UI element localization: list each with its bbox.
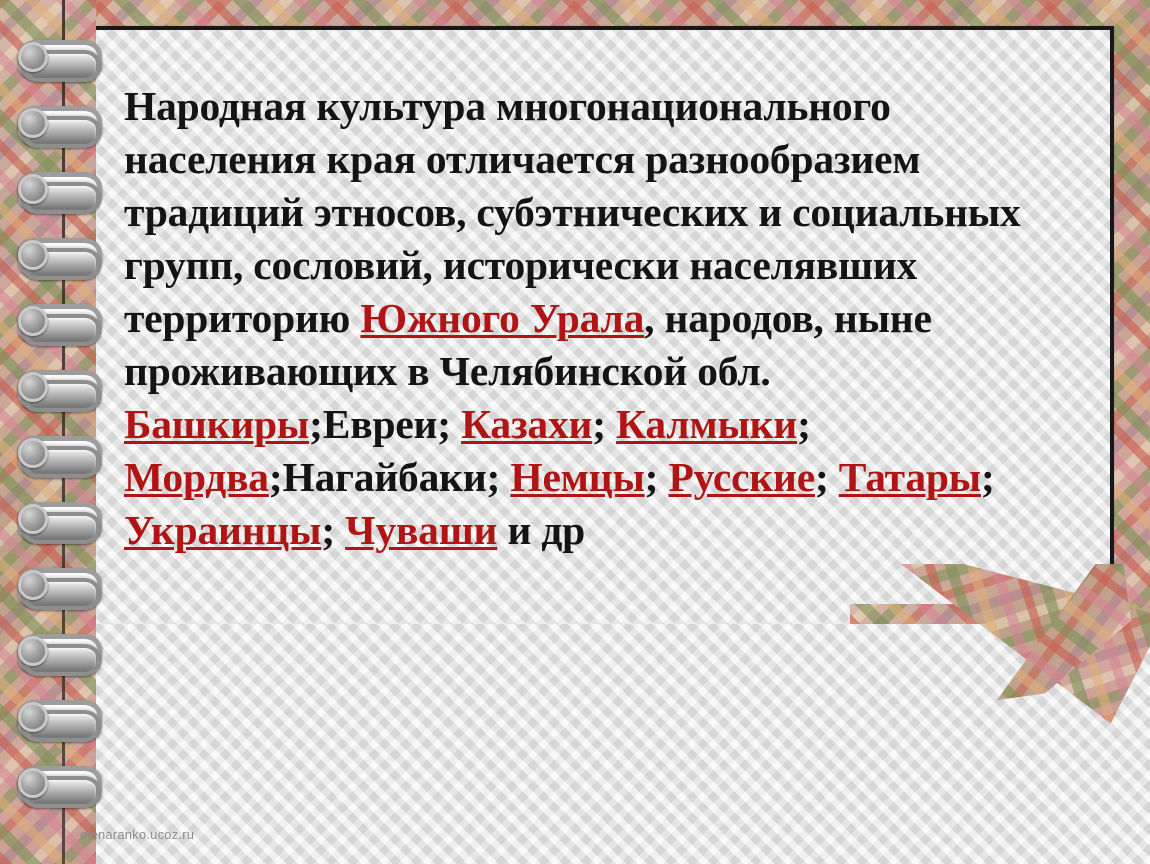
link-bashkiry[interactable]: Башкиры (124, 401, 309, 447)
spiral-ring (18, 104, 96, 144)
spiral-ring (18, 302, 96, 342)
link-tatary[interactable]: Татары (839, 454, 981, 500)
sep-2: ; (797, 401, 811, 447)
slide-text-body: Народная культура многонационального нас… (124, 80, 1074, 557)
spiral-ring-knob (18, 438, 48, 468)
link-mordva[interactable]: Мордва (124, 454, 269, 500)
spiral-ring (18, 170, 96, 210)
link-kazahi[interactable]: Казахи (461, 401, 592, 447)
paper-sheet-lower (86, 624, 1150, 864)
link-chuvashi[interactable]: Чуваши (345, 507, 497, 553)
spiral-rings-group (18, 38, 96, 828)
spiral-ring (18, 632, 96, 672)
spiral-ring-knob (18, 636, 48, 666)
link-russkie[interactable]: Русские (668, 454, 815, 500)
spiral-binding-band (0, 0, 96, 864)
slide-root: Народная культура многонационального нас… (0, 0, 1150, 864)
sep-4: ; (815, 454, 839, 500)
spiral-ring-knob (18, 504, 48, 534)
link-yuzhnogo-urala[interactable]: Южного Урала (360, 295, 644, 341)
sep-6: ; (321, 507, 345, 553)
spiral-ring-knob (18, 570, 48, 600)
paragraph-main: Народная культура многонационального нас… (124, 80, 1074, 557)
spiral-ring (18, 698, 96, 738)
text-tail: и др (497, 507, 585, 553)
site-watermark: elenaranko.ucoz.ru (80, 827, 194, 842)
text-nagaibaki: ;Нагайбаки; (269, 454, 510, 500)
spiral-ring-knob (18, 372, 48, 402)
link-ukraincy[interactable]: Украинцы (124, 507, 321, 553)
spiral-ring-knob (18, 42, 48, 72)
link-nemcy[interactable]: Немцы (510, 454, 644, 500)
spiral-ring (18, 764, 96, 804)
spiral-ring (18, 500, 96, 540)
sep-1: ; (592, 401, 616, 447)
spiral-ring (18, 434, 96, 474)
sep-3: ; (645, 454, 669, 500)
spiral-ring (18, 368, 96, 408)
spiral-ring-knob (18, 174, 48, 204)
spiral-ring-knob (18, 108, 48, 138)
spiral-ring (18, 236, 96, 276)
spiral-ring-knob (18, 306, 48, 336)
sep-5: ; (981, 454, 995, 500)
spiral-ring-knob (18, 702, 48, 732)
spiral-ring (18, 566, 96, 606)
spiral-ring-knob (18, 768, 48, 798)
link-kalmyki[interactable]: Калмыки (616, 401, 797, 447)
text-evrei: ;Евреи; (309, 401, 461, 447)
spiral-ring (18, 38, 96, 78)
spiral-ring-knob (18, 240, 48, 270)
